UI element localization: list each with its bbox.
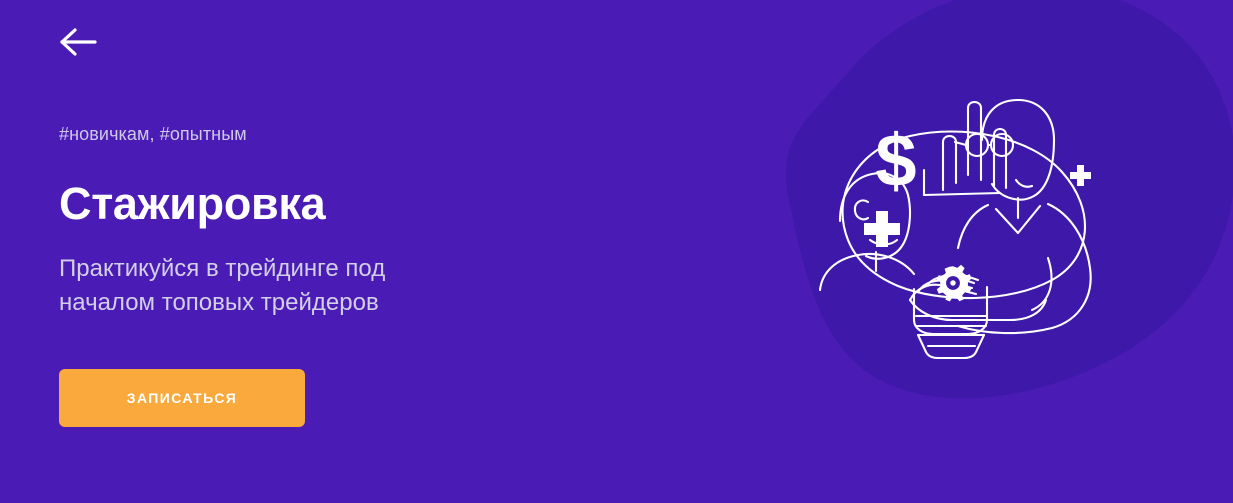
lightbulb-outline	[843, 132, 1085, 299]
plus-small	[1070, 165, 1091, 186]
mentorship-lightbulb-illustration: $	[700, 0, 1233, 430]
signup-button[interactable]: ЗАПИСАТЬСЯ	[59, 369, 305, 427]
gear-icon	[937, 265, 972, 302]
dollar-sign: $	[875, 119, 916, 202]
bulb-base	[914, 287, 987, 358]
filament-lines	[924, 102, 1006, 195]
hero-tagline: #новичкам, #опытным	[59, 122, 247, 146]
arrow-left-icon	[59, 27, 97, 57]
trainee-figure	[820, 173, 914, 290]
mentor-figure	[955, 100, 1091, 333]
page-title: Стажировка	[59, 176, 325, 232]
blob-shape	[786, 0, 1233, 398]
hero-subtitle-line2: началом топовых трейдеров	[59, 286, 479, 320]
open-hand	[910, 273, 1046, 320]
hero-subtitle-line1: Практикуйся в трейдинге под	[59, 252, 479, 286]
hero-content: #новичкам, #опытным Стажировка Практикуй…	[59, 0, 619, 503]
hero-banner: $ #новичкам, #опытным Стажировка	[0, 0, 1233, 503]
hero-subtitle: Практикуйся в трейдинге под началом топо…	[59, 252, 479, 320]
plus-large	[864, 211, 900, 247]
back-button[interactable]	[59, 22, 101, 62]
